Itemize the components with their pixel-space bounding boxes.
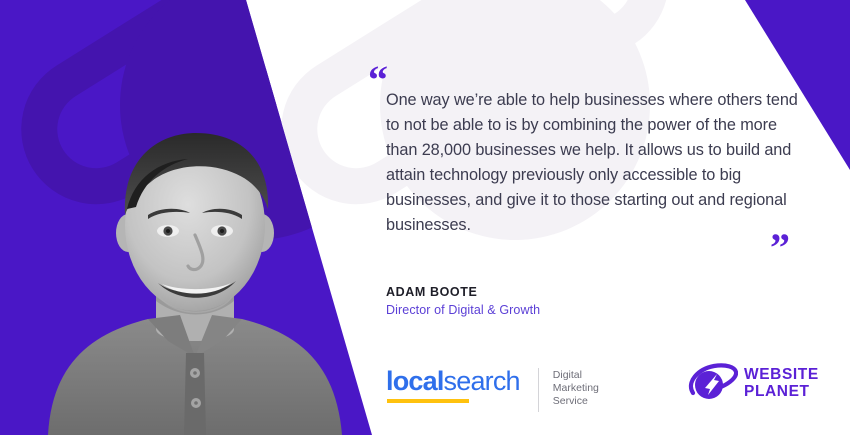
- localsearch-word-regular: search: [444, 366, 520, 396]
- localsearch-wordmark: localsearch: [386, 368, 520, 403]
- portrait-photo: [30, 105, 360, 435]
- localsearch-tagline: Digital Marketing Service: [553, 368, 599, 408]
- website-planet-line-1: WEBSITE: [744, 366, 819, 383]
- website-planet-line-2: PLANET: [744, 383, 819, 400]
- quote-text: One way we’re able to help businesses wh…: [386, 88, 798, 238]
- tagline-line-2: Marketing: [553, 382, 599, 395]
- tagline-line-3: Service: [553, 395, 599, 408]
- localsearch-underline: [387, 399, 469, 403]
- attribution: ADAM BOOTE Director of Digital & Growth: [386, 285, 540, 317]
- logo-divider: [538, 368, 539, 412]
- localsearch-logo[interactable]: localsearch Digital Marketing Service: [386, 368, 599, 412]
- attribution-role: Director of Digital & Growth: [386, 303, 540, 317]
- website-planet-wordmark: WEBSITE PLANET: [744, 366, 819, 400]
- website-planet-logo[interactable]: WEBSITE PLANET: [688, 362, 819, 404]
- attribution-name: ADAM BOOTE: [386, 285, 540, 299]
- quote-open-icon: “: [368, 60, 387, 100]
- quote-card: “ One way we’re able to help businesses …: [0, 0, 850, 435]
- quote-close-icon: ”: [770, 228, 789, 268]
- localsearch-word: localsearch: [386, 368, 520, 395]
- tagline-line-1: Digital: [553, 369, 599, 382]
- website-planet-icon: [688, 362, 738, 404]
- localsearch-word-bold: local: [386, 366, 444, 396]
